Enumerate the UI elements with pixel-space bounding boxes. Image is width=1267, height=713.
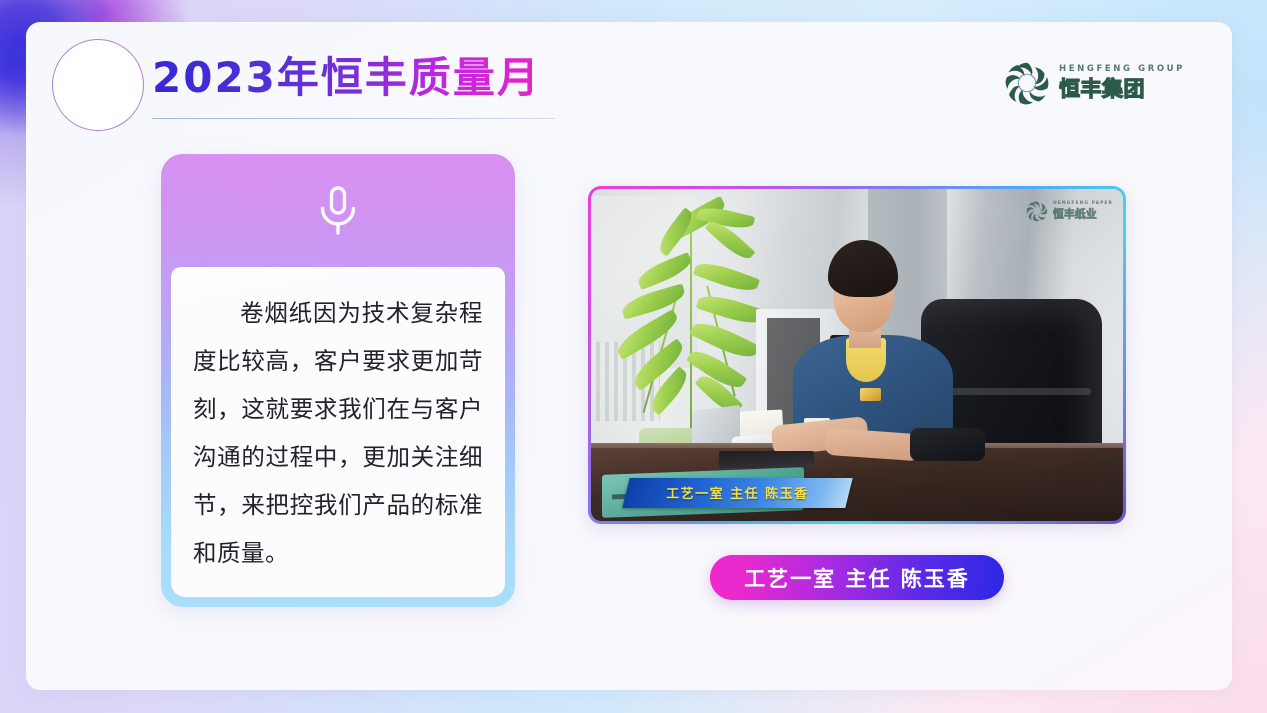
video-watermark-name-en: HENGFENG PAPER [1053,201,1113,206]
quote-text: 卷烟纸因为技术复杂程度比较高，客户要求更加苛刻，这就要求我们在与客户沟通的过程中… [193,289,483,577]
slide-panel: 2023年恒丰质量月 HENGFENG GROUP [26,22,1232,690]
video-lower-third-text: 工艺一室 主任 陈玉香 [666,483,809,502]
video-lower-third-banner: 工艺一室 主任 陈玉香 [622,478,853,508]
hengfeng-pinwheel-logo-icon [1026,200,1048,222]
hengfeng-pinwheel-logo-icon [1004,60,1050,106]
video-watermark: HENGFENG PAPER 恒丰纸业 [1026,200,1113,222]
svg-text:恒丰纸业: 恒丰纸业 [1053,208,1097,221]
svg-text:恒丰集团: 恒丰集团 [1059,77,1145,101]
video-watermark-name-cn: 恒丰纸业 [1053,207,1105,221]
decorative-outline-circle [52,39,144,131]
brand-name-en: HENGFENG GROUP [1059,64,1185,74]
brand-name-cn: 恒丰集团 [1059,76,1161,102]
video-watermark-wordmark: HENGFENG PAPER 恒丰纸业 [1053,201,1113,221]
microphone-icon [315,185,361,237]
title-divider-rule [152,118,555,119]
video-screen[interactable]: 工艺一室 主任 陈玉香 [591,189,1123,521]
video-frame: 工艺一室 主任 陈玉香 [588,186,1126,524]
quote-card-header [161,154,515,267]
speaker-caption-pill: 工艺一室 主任 陈玉香 [710,555,1004,600]
speaker-caption-text: 工艺一室 主任 陈玉香 [744,563,970,593]
brand-wordmark: HENGFENG GROUP 恒丰集团 [1059,64,1185,102]
slide-header: 2023年恒丰质量月 HENGFENG GROUP [26,22,1232,152]
quote-card: 卷烟纸因为技术复杂程度比较高，客户要求更加苛刻，这就要求我们在与客户沟通的过程中… [161,154,515,607]
scene-vignette [591,189,1123,521]
brand-logo: HENGFENG GROUP 恒丰集团 [1004,60,1185,106]
page-title: 2023年恒丰质量月 [152,55,541,101]
quote-inner-card: 卷烟纸因为技术复杂程度比较高，客户要求更加苛刻，这就要求我们在与客户沟通的过程中… [171,267,505,597]
